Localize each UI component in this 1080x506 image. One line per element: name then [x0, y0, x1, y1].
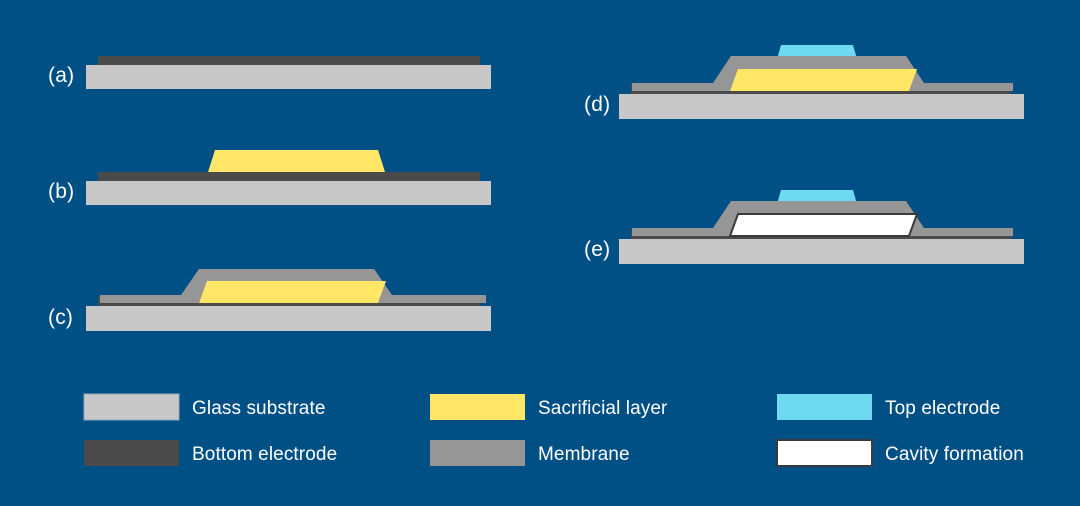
legend-label-sacrificial-layer: Sacrificial layer — [538, 398, 668, 419]
swatch-sacrificial-layer — [430, 394, 525, 420]
legend-item-sacrificial-layer: Sacrificial layer — [430, 394, 668, 420]
legend-label-top-electrode: Top electrode — [885, 398, 1000, 419]
legend-item-bottom-electrode: Bottom electrode — [84, 440, 337, 466]
panel-d-label: (d) — [584, 93, 610, 116]
legend-item-glass-substrate: Glass substrate — [84, 394, 326, 420]
legend-label-cavity-formation: Cavity formation — [885, 444, 1024, 465]
swatch-membrane — [430, 440, 525, 466]
legend-label-membrane: Membrane — [538, 444, 630, 465]
legend-item-top-electrode: Top electrode — [777, 394, 1000, 420]
panel-e-label: (e) — [584, 238, 610, 261]
process-flow-diagram: (a) (b) (c) (d) — [0, 0, 1080, 506]
swatch-bottom-electrode — [84, 440, 179, 466]
panel-a-glass-substrate — [86, 65, 491, 89]
panel-b-bottom-electrode — [98, 172, 480, 181]
panel-a-label: (a) — [48, 64, 74, 87]
panel-c-sacrificial-fill — [199, 281, 386, 303]
panel-b-sacrificial-layer — [208, 150, 385, 172]
swatch-cavity-formation — [777, 440, 872, 466]
panel-e-glass-substrate — [619, 239, 1024, 264]
swatch-top-electrode — [777, 394, 872, 420]
legend-label-glass-substrate: Glass substrate — [192, 398, 326, 419]
panel-d-glass-substrate — [619, 94, 1024, 119]
panel-a-group: (a) — [48, 56, 491, 89]
panel-d-sacrificial-fill — [730, 69, 917, 91]
panel-c-label: (c) — [48, 306, 73, 329]
panel-b-label: (b) — [48, 180, 74, 203]
legend-item-cavity-formation: Cavity formation — [777, 440, 1024, 466]
panel-b-glass-substrate — [86, 181, 491, 205]
panel-a-bottom-electrode — [98, 56, 480, 65]
figure-root: (a) (b) (c) (d) — [0, 0, 1080, 506]
swatch-glass-substrate — [84, 394, 179, 420]
legend-label-bottom-electrode: Bottom electrode — [192, 444, 337, 465]
panel-c-glass-substrate — [86, 306, 491, 331]
panel-e-cavity-fill — [730, 214, 917, 236]
